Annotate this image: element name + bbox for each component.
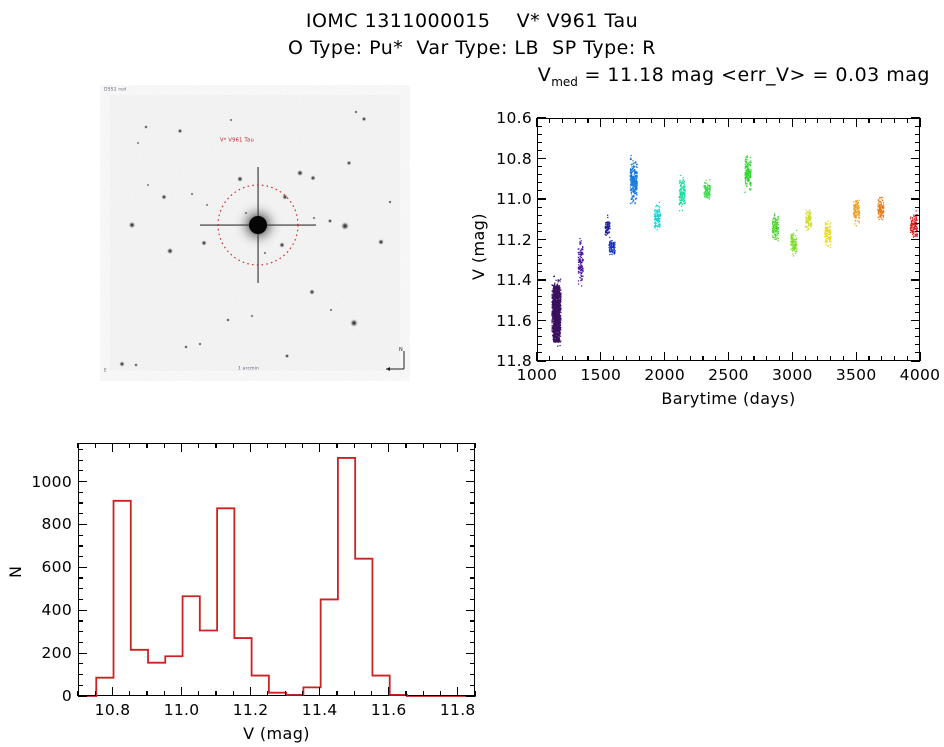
- lc-ytick-right: [915, 344, 920, 345]
- lc-xtick-label: 1500: [575, 366, 627, 384]
- lc-xtick-top: [587, 118, 588, 123]
- lc-ytick: [537, 255, 542, 256]
- hist-ytick-label: 0: [16, 687, 72, 705]
- lc-ytick-label: 11.6: [480, 312, 532, 330]
- lc-ytick-label: 11.0: [480, 190, 532, 208]
- lc-xtick-top: [843, 118, 844, 123]
- lc-xtick-top: [868, 118, 869, 123]
- hist-ytick: [78, 492, 83, 493]
- svg-text:N: N: [399, 347, 403, 353]
- lc-ytick: [537, 142, 542, 143]
- lc-ytick-right: [911, 320, 920, 321]
- lc-cluster-6: [679, 175, 686, 212]
- lc-ytick: [537, 126, 542, 127]
- lc-cluster-11: [805, 209, 812, 231]
- lc-cluster-13: [853, 200, 860, 227]
- lc-ytick-right: [915, 174, 920, 175]
- hist-xtick-top: [215, 443, 216, 448]
- lc-ytick: [537, 207, 542, 208]
- lc-xtick-top: [817, 118, 818, 123]
- lc-ytick: [537, 288, 542, 289]
- lc-xtick-top: [766, 118, 767, 123]
- lc-xtick-top: [651, 118, 652, 123]
- lc-ytick-right: [911, 158, 920, 159]
- hist-ytick: [78, 535, 83, 536]
- lc-xtick-top: [856, 118, 857, 127]
- lc-xtick: [664, 352, 665, 361]
- title-block: IOMC 1311000015 V* V961 Tau O Type: Pu* …: [0, 8, 944, 62]
- lc-xtick: [817, 356, 818, 361]
- lc-cluster-7: [704, 179, 711, 200]
- lc-xtick: [766, 356, 767, 361]
- lc-xtick: [600, 352, 601, 361]
- lc-xtick-top: [779, 118, 780, 123]
- hist-ytick: [78, 588, 83, 589]
- lc-ytick-right: [915, 263, 920, 264]
- lc-ytick: [537, 134, 542, 135]
- lc-ytick-right: [915, 134, 920, 135]
- lc-xtick-label: 3500: [830, 366, 882, 384]
- lc-xtick: [587, 356, 588, 361]
- chart-scalebar-label: 1 arcmin: [238, 366, 259, 371]
- hist-ytick: [78, 599, 83, 600]
- hist-xtick: [440, 691, 441, 696]
- hist-ytick-right: [470, 588, 475, 589]
- lc-xtick-top: [830, 118, 831, 123]
- lc-ytick: [537, 304, 542, 305]
- hist-ytick: [78, 545, 83, 546]
- lc-cluster-2: [605, 215, 611, 236]
- lc-ytick-right: [915, 271, 920, 272]
- hist-xtick: [146, 691, 147, 696]
- hist-xtick: [302, 691, 303, 696]
- lc-ytick: [537, 198, 546, 199]
- hist-xtick-top: [457, 443, 458, 452]
- hist-xtick-top: [181, 443, 182, 452]
- lc-ytick-right: [911, 239, 920, 240]
- hist-ytick-right: [466, 481, 475, 482]
- hist-ytick-right: [470, 492, 475, 493]
- orientation-compass-icon: N: [378, 347, 408, 373]
- lc-cluster-0: [551, 276, 561, 347]
- hist-ytick-right: [470, 470, 475, 471]
- hist-ytick: [78, 695, 87, 696]
- lc-ytick-right: [915, 223, 920, 224]
- hist-ytick-right: [470, 663, 475, 664]
- lc-ytick-right: [915, 150, 920, 151]
- lc-ytick: [537, 296, 542, 297]
- lc-ytick: [537, 352, 542, 353]
- hist-xtick-label: 10.8: [83, 701, 143, 719]
- lc-ytick-right: [911, 198, 920, 199]
- lc-xtick: [575, 356, 576, 361]
- hist-xtick-label: 11.6: [359, 701, 419, 719]
- light-curve-plot: [537, 118, 920, 361]
- hist-xtick-label: 11.0: [152, 701, 212, 719]
- hist-xtick: [233, 691, 234, 696]
- hist-xtick-top: [250, 443, 251, 452]
- hist-ytick-right: [466, 653, 475, 654]
- hist-xtick-top: [233, 443, 234, 448]
- hist-ytick: [78, 663, 83, 664]
- hist-xtick: [112, 687, 113, 696]
- hist-ytick-right: [470, 674, 475, 675]
- hist-xtick-top: [336, 443, 337, 448]
- hist-ytick: [78, 620, 83, 621]
- hist-ytick-right: [470, 460, 475, 461]
- hist-xtick: [215, 691, 216, 696]
- hist-ytick: [78, 685, 83, 686]
- lc-xtick-top: [881, 118, 882, 123]
- hist-ytick: [78, 610, 87, 611]
- lc-ytick: [537, 279, 546, 280]
- hist-xtick-top: [388, 443, 389, 452]
- lc-xtick: [894, 356, 895, 361]
- hist-xtick: [388, 687, 389, 696]
- lc-ytick-right: [915, 312, 920, 313]
- hist-xtick-top: [129, 443, 130, 448]
- lc-ytick: [537, 190, 542, 191]
- hist-xtick: [319, 687, 320, 696]
- lc-xaxis-title: Barytime (days): [537, 389, 920, 408]
- lc-xtick-top: [626, 118, 627, 123]
- hist-ytick-label: 400: [16, 601, 72, 619]
- lc-xtick-top: [702, 118, 703, 123]
- hist-xtick-top: [112, 443, 113, 452]
- hist-ytick: [78, 481, 87, 482]
- lc-ytick: [537, 158, 546, 159]
- hist-ytick: [78, 513, 83, 514]
- hist-ytick: [78, 470, 83, 471]
- chart-target-label: V* V961 Tau: [220, 137, 254, 143]
- lc-xtick: [856, 352, 857, 361]
- lc-xtick: [907, 356, 908, 361]
- hist-xtick: [371, 691, 372, 696]
- lc-ytick: [537, 312, 542, 313]
- chart-survey-label: DSS2 red: [104, 87, 126, 92]
- lc-ytick-right: [915, 255, 920, 256]
- lc-ytick: [537, 360, 546, 361]
- lc-xtick: [562, 356, 563, 361]
- hist-ytick: [78, 502, 83, 503]
- lc-cluster-3: [608, 237, 615, 255]
- hist-ytick-right: [470, 449, 475, 450]
- hist-xtick: [423, 691, 424, 696]
- lc-cluster-12: [824, 221, 831, 249]
- page-title: IOMC 1311000015 V* V961 Tau: [0, 8, 944, 35]
- lc-ytick: [537, 166, 542, 167]
- lc-ytick-right: [915, 328, 920, 329]
- magnitude-histogram-plot: [78, 443, 475, 696]
- lc-ytick: [537, 117, 546, 118]
- hist-xtick: [336, 691, 337, 696]
- lc-ytick-right: [915, 296, 920, 297]
- lc-ytick-right: [915, 304, 920, 305]
- hist-ytick: [78, 653, 87, 654]
- lc-xtick-top: [677, 118, 678, 123]
- hist-ytick-label: 1000: [16, 473, 72, 491]
- hist-xtick: [164, 691, 165, 696]
- lc-xtick-top: [575, 118, 576, 123]
- lc-xtick-top: [549, 118, 550, 123]
- lc-xtick-top: [715, 118, 716, 123]
- lc-xtick-top: [805, 118, 806, 123]
- hist-ytick-right: [466, 567, 475, 568]
- lc-ytick-right: [915, 247, 920, 248]
- hist-xtick: [250, 687, 251, 696]
- lc-ytick: [537, 182, 542, 183]
- lc-xtick-top: [562, 118, 563, 123]
- lc-xtick: [805, 356, 806, 361]
- lc-xtick: [651, 356, 652, 361]
- lc-cluster-5: [654, 202, 661, 231]
- hist-ytick: [78, 524, 87, 525]
- lc-xtick: [843, 356, 844, 361]
- hist-xtick: [405, 691, 406, 696]
- hist-yaxis-title: N: [6, 565, 25, 577]
- lc-cluster-10: [790, 230, 797, 257]
- hist-xtick: [181, 687, 182, 696]
- lc-xtick: [715, 356, 716, 361]
- lc-cluster-4: [630, 155, 638, 204]
- lc-ytick-right: [915, 288, 920, 289]
- hist-xtick-top: [474, 443, 475, 448]
- lc-xtick: [779, 356, 780, 361]
- hist-ytick: [78, 449, 83, 450]
- hist-ytick-right: [466, 610, 475, 611]
- object-types-line: O Type: Pu* Var Type: LB SP Type: R: [0, 35, 944, 62]
- lc-xtick-label: 4000: [894, 366, 944, 384]
- lc-ytick-right: [915, 182, 920, 183]
- lc-ytick-label: 10.6: [480, 109, 532, 127]
- hist-xtick-top: [77, 443, 78, 448]
- lc-cluster-8: [744, 155, 751, 193]
- lc-ytick: [537, 150, 542, 151]
- hist-ytick-right: [470, 535, 475, 536]
- lc-xtick: [613, 356, 614, 361]
- hist-ytick-right: [466, 524, 475, 525]
- lc-ytick-right: [911, 360, 920, 361]
- lc-ytick-right: [915, 352, 920, 353]
- hist-xaxis-title: V (mag): [78, 724, 475, 743]
- lc-xtick: [549, 356, 550, 361]
- lc-cluster-9: [772, 213, 779, 241]
- histogram-bars: [79, 444, 476, 697]
- lc-ytick: [537, 247, 542, 248]
- lc-ytick-right: [915, 190, 920, 191]
- lc-xtick-top: [894, 118, 895, 123]
- vmed-values: = 11.18 mag <err_V> = 0.03 mag: [578, 64, 930, 86]
- lc-ytick-right: [915, 166, 920, 167]
- hist-ytick-right: [470, 685, 475, 686]
- lc-ytick-right: [915, 215, 920, 216]
- lc-xtick-top: [664, 118, 665, 127]
- lc-xtick: [639, 356, 640, 361]
- lc-ytick: [537, 231, 542, 232]
- lc-xtick: [702, 356, 703, 361]
- lc-xtick-label: 3000: [766, 366, 818, 384]
- lc-ytick-right: [915, 126, 920, 127]
- hist-xtick-top: [146, 443, 147, 448]
- light-curve-data: [538, 119, 921, 362]
- lc-xtick-top: [741, 118, 742, 123]
- hist-ytick-right: [470, 642, 475, 643]
- lc-xtick: [792, 352, 793, 361]
- lc-ytick-right: [915, 231, 920, 232]
- lc-xtick: [830, 356, 831, 361]
- hist-xtick-top: [319, 443, 320, 452]
- lc-xtick-label: 2000: [639, 366, 691, 384]
- hist-ytick-label: 200: [16, 644, 72, 662]
- hist-xtick-top: [164, 443, 165, 448]
- hist-ytick-right: [466, 695, 475, 696]
- lc-xtick: [881, 356, 882, 361]
- hist-xtick-label: 11.4: [290, 701, 350, 719]
- hist-ytick-right: [470, 620, 475, 621]
- lc-ytick: [537, 239, 546, 240]
- hist-xtick-label: 11.2: [221, 701, 281, 719]
- lc-ytick: [537, 328, 542, 329]
- lc-ytick-right: [915, 142, 920, 143]
- hist-xtick: [457, 687, 458, 696]
- lc-xtick-top: [728, 118, 729, 127]
- lc-ytick: [537, 344, 542, 345]
- hist-ytick-label: 800: [16, 515, 72, 533]
- hist-ytick-right: [470, 502, 475, 503]
- hist-xtick-top: [302, 443, 303, 448]
- lc-ytick: [537, 263, 542, 264]
- lc-yaxis-title: V (mag): [469, 213, 488, 280]
- lc-xtick-top: [690, 118, 691, 123]
- hist-ytick-right: [470, 513, 475, 514]
- hist-ytick: [78, 642, 83, 643]
- hist-xtick: [267, 691, 268, 696]
- lc-xtick: [728, 352, 729, 361]
- hist-ytick-right: [470, 556, 475, 557]
- lc-xtick-top: [792, 118, 793, 127]
- lc-xtick-top: [907, 118, 908, 123]
- vmed-symbol: V: [538, 64, 552, 86]
- lc-xtick-top: [639, 118, 640, 123]
- lc-cluster-14: [877, 197, 884, 220]
- hist-xtick-top: [198, 443, 199, 448]
- lc-ytick-label: 10.8: [480, 150, 532, 168]
- lc-cluster-1: [578, 238, 584, 287]
- lc-ytick: [537, 336, 542, 337]
- lc-xtick: [690, 356, 691, 361]
- lc-ytick: [537, 271, 542, 272]
- lc-ytick: [537, 223, 542, 224]
- lc-xtick-top: [613, 118, 614, 123]
- lc-xtick: [741, 356, 742, 361]
- hist-xtick-top: [354, 443, 355, 448]
- lc-xtick: [868, 356, 869, 361]
- hist-ytick-right: [470, 631, 475, 632]
- hist-xtick-top: [405, 443, 406, 448]
- finding-chart: DSS2 red E 1 arcmin V* V961 Tau N: [100, 85, 410, 381]
- hist-xtick-top: [371, 443, 372, 448]
- hist-ytick-right: [470, 545, 475, 546]
- hist-ytick: [78, 674, 83, 675]
- lc-xtick: [626, 356, 627, 361]
- hist-ytick: [78, 577, 83, 578]
- hist-xtick-label: 11.8: [428, 701, 488, 719]
- hist-xtick: [95, 691, 96, 696]
- hist-xtick: [354, 691, 355, 696]
- hist-xtick: [198, 691, 199, 696]
- lc-ytick-right: [911, 279, 920, 280]
- lc-xtick-top: [753, 118, 754, 123]
- hist-outline: [96, 458, 476, 697]
- hist-xtick: [285, 691, 286, 696]
- lc-ytick: [537, 215, 542, 216]
- hist-ytick: [78, 556, 83, 557]
- lc-ytick-right: [915, 336, 920, 337]
- hist-ytick-right: [470, 599, 475, 600]
- hist-xtick-top: [267, 443, 268, 448]
- hist-ytick-right: [470, 577, 475, 578]
- lc-ytick-right: [911, 117, 920, 118]
- lc-ytick-label: 11.8: [480, 352, 532, 370]
- lc-xtick-top: [600, 118, 601, 127]
- lc-xtick-label: 2500: [703, 366, 755, 384]
- chart-east-label: E: [104, 368, 107, 373]
- lc-ytick-right: [915, 207, 920, 208]
- hist-ytick: [78, 631, 83, 632]
- lc-xtick: [677, 356, 678, 361]
- hist-xtick-top: [95, 443, 96, 448]
- lc-ytick: [537, 320, 546, 321]
- hist-ytick: [78, 460, 83, 461]
- hist-ytick: [78, 567, 87, 568]
- hist-xtick-top: [423, 443, 424, 448]
- lc-xtick: [753, 356, 754, 361]
- sky-image: [100, 85, 410, 381]
- hist-xtick-top: [440, 443, 441, 448]
- hist-xtick: [129, 691, 130, 696]
- lc-ytick: [537, 174, 542, 175]
- vmed-subscript: med: [551, 75, 578, 89]
- hist-xtick-top: [285, 443, 286, 448]
